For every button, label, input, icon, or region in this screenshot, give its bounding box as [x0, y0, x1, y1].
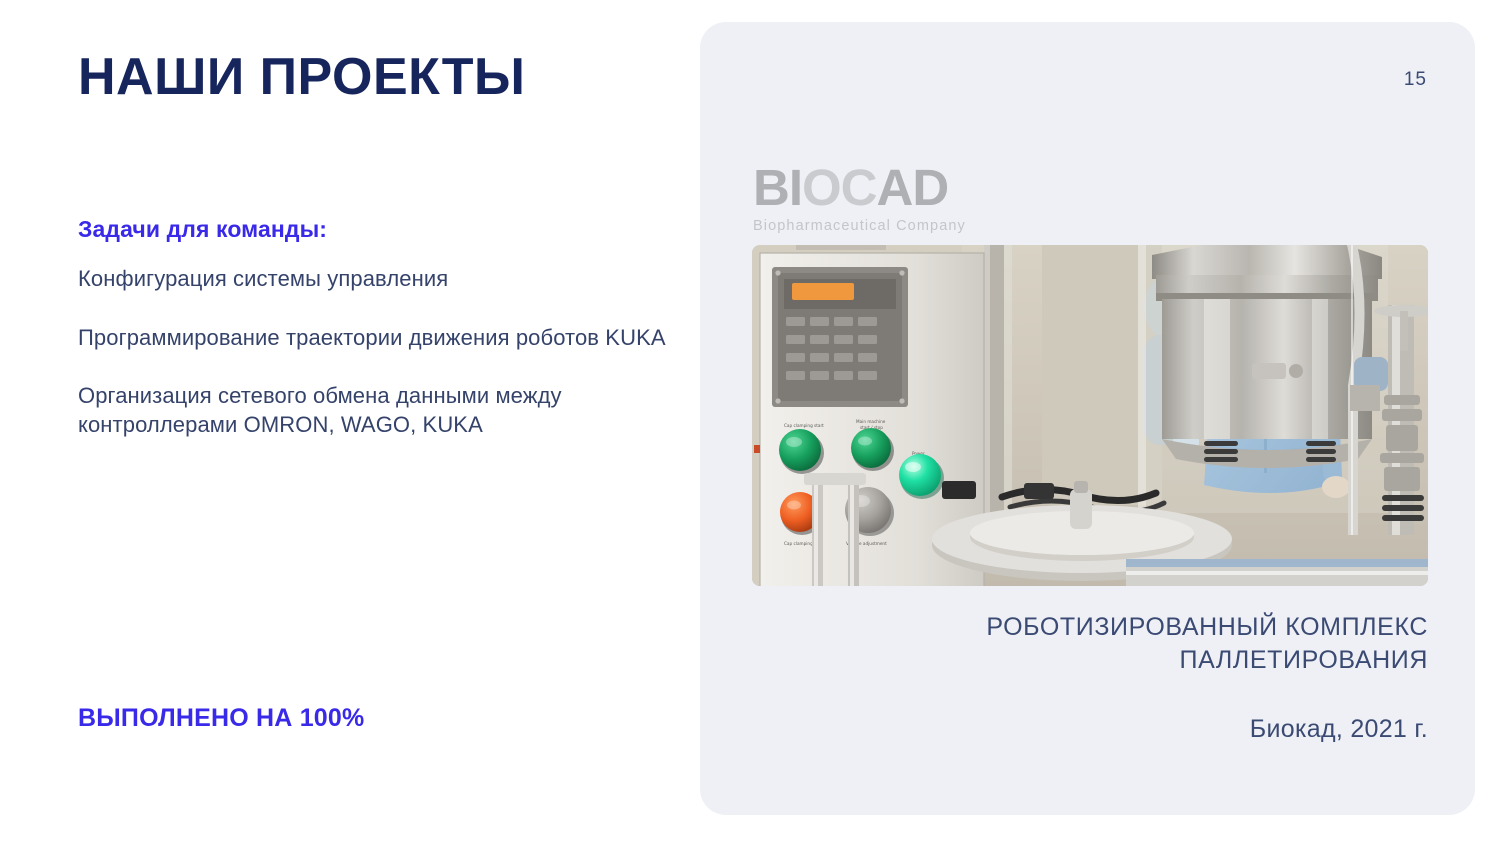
tasks-heading: Задачи для команды:: [78, 216, 327, 243]
list-item: Программирование траектории движения роб…: [78, 324, 678, 353]
page-title: НАШИ ПРОЕКТЫ: [78, 50, 525, 105]
logo-text-bi: BI: [753, 159, 802, 216]
logo-text-ad: AD: [877, 159, 949, 216]
caption-line-2: ПАЛЛЕТИРОВАНИЯ: [808, 644, 1428, 677]
biocad-logo: BIOCAD Biopharmaceutical Company: [753, 162, 966, 234]
task-list: Конфигурация системы управления Программ…: [78, 265, 678, 439]
project-showcase-panel: 15 BIOCAD Biopharmaceutical Company: [700, 22, 1475, 815]
list-item: Организация сетевого обмена данными межд…: [78, 382, 678, 439]
project-caption: РОБОТИЗИРОВАННЫЙ КОМПЛЕКС ПАЛЛЕТИРОВАНИЯ: [808, 611, 1428, 676]
project-photo: Cap clamping start Main machine start / …: [752, 245, 1428, 586]
project-credit: Биокад, 2021 г.: [808, 715, 1428, 744]
logo-wordmark: BIOCAD: [753, 162, 966, 213]
status-badge: ВЫПОЛНЕНО НА 100%: [78, 704, 364, 733]
left-content-column: НАШИ ПРОЕКТЫ Задачи для команды: Конфигу…: [78, 0, 678, 849]
caption-line-1: РОБОТИЗИРОВАННЫЙ КОМПЛЕКС: [808, 611, 1428, 644]
presentation-slide: НАШИ ПРОЕКТЫ Задачи для команды: Конфигу…: [0, 0, 1511, 849]
list-item: Конфигурация системы управления: [78, 265, 678, 294]
svg-text:Main machine: Main machine: [856, 419, 886, 424]
page-number: 15: [1404, 69, 1427, 91]
svg-text:Cap clamping start: Cap clamping start: [784, 423, 824, 428]
logo-tagline: Biopharmaceutical Company: [753, 218, 966, 234]
photo-illustration: Cap clamping start Main machine start / …: [752, 245, 1428, 586]
logo-text-oc: OC: [802, 159, 877, 216]
